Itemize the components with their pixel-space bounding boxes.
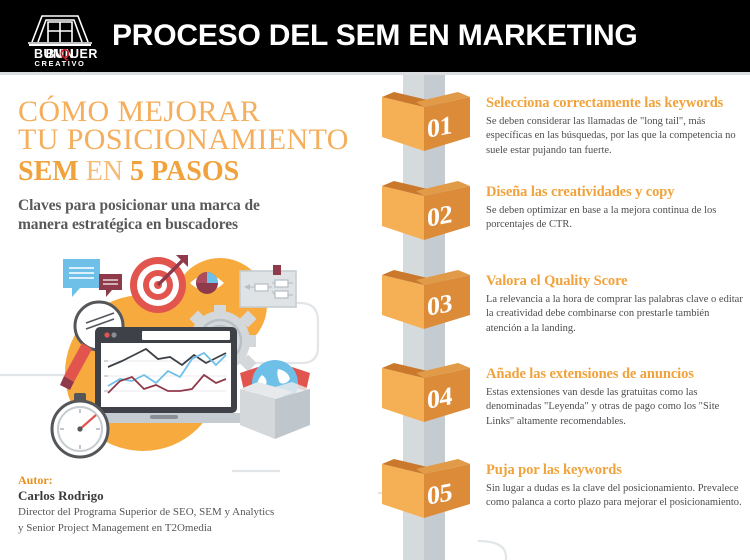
author-block: Autor: Carlos Rodrigo Director del Progr… [18, 473, 348, 537]
step-title-05: Puja por las keywords [486, 462, 744, 479]
step-item-01[interactable]: 01 Selecciona correctamente las keywords… [378, 89, 750, 179]
speech-bubble-blue [63, 259, 100, 297]
step-item-02[interactable]: 02 Diseña las creatividades y copy Se de… [378, 178, 750, 268]
author-role-line-1: Director del Programa Superior de SEO, S… [18, 505, 348, 521]
hero-en-label: EN [79, 156, 130, 187]
laptop-line-chart [82, 327, 250, 423]
step-item-04[interactable]: 04 Añade las extensiones de anuncios Est… [378, 360, 750, 450]
step-content-03: Valora el Quality Score La relevancia a … [486, 273, 744, 336]
author-label: Autor: [18, 473, 348, 488]
infographic-canvas: BUN BUNQUER BUN Q UER CREATIVO PROCESO D… [0, 0, 750, 560]
header-bar: BUN BUNQUER BUN Q UER CREATIVO PROCESO D… [0, 0, 750, 72]
logo-tagline-text: CREATIVO [35, 59, 86, 68]
step-title-03: Valora el Quality Score [486, 273, 744, 290]
steps-column: 01 Selecciona correctamente las keywords… [378, 75, 750, 560]
step-item-05[interactable]: 05 Puja por las keywords Sin lugar a dud… [378, 456, 750, 546]
step-description-04: Estas extensiones van desde las gratuita… [486, 386, 744, 429]
step-description-02: Se deben optimizar en base a la mejora c… [486, 204, 744, 233]
step-content-05: Puja por las keywords Sin lugar a dudas … [486, 462, 744, 511]
step-description-01: Se deben considerar las llamadas de "lon… [486, 115, 744, 158]
logo-bunquer-creativo: BUN BUNQUER BUN Q UER CREATIVO [14, 4, 106, 68]
open-box-globe-icon [240, 360, 310, 439]
flowchart-icon [240, 265, 296, 307]
hero-subtitle-line-2: manera estratégica en buscadores [18, 216, 238, 234]
step-title-04: Añade las extensiones de anuncios [486, 366, 744, 383]
hero-line-2: TU POSICIONAMIENTO [18, 124, 349, 156]
step-content-04: Añade las extensiones de anuncios Estas … [486, 366, 744, 429]
page-title: PROCESO DEL SEM EN MARKETING [112, 19, 638, 53]
step-content-01: Selecciona correctamente las keywords Se… [486, 95, 744, 158]
hero-subtitle-line-1: Claves para posicionar una marca de [18, 197, 260, 215]
speech-bubble-maroon [99, 274, 122, 297]
hero-pasos-label: 5 PASOS [130, 156, 239, 187]
hero-panel: CÓMO MEJORAR TU POSICIONAMIENTO SEM EN 5… [0, 75, 378, 560]
step-title-01: Selecciona correctamente las keywords [486, 95, 744, 112]
step-description-05: Sin lugar a dudas es la clave del posici… [486, 482, 744, 511]
sem-analytics-illustration [0, 243, 378, 483]
hero-sem-label: SEM [18, 156, 79, 187]
author-name: Carlos Rodrigo [18, 488, 348, 505]
step-title-02: Diseña las creatividades y copy [486, 184, 744, 201]
step-item-03[interactable]: 03 Valora el Quality Score La relevancia… [378, 267, 750, 357]
step-content-02: Diseña las creatividades y copy Se deben… [486, 184, 744, 233]
author-role-line-2: y Senior Project Management en T2Omedia [18, 521, 348, 537]
hero-line-3: SEM EN 5 PASOS [18, 157, 239, 186]
step-description-03: La relevancia a la hora de comprar las p… [486, 293, 744, 336]
